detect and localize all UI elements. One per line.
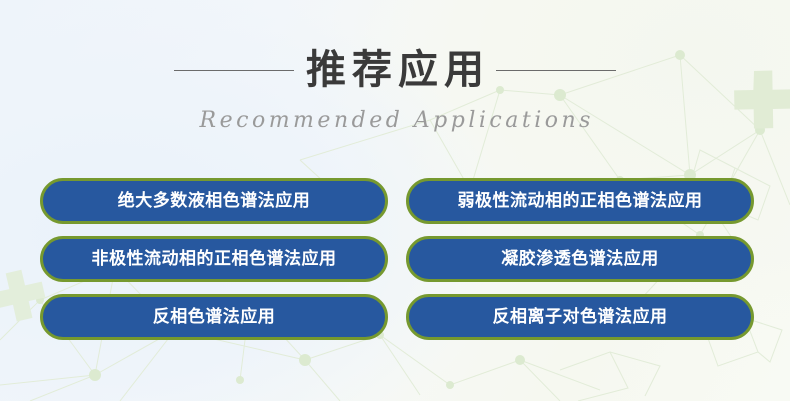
application-pill-label: 非极性流动相的正相色谱法应用 xyxy=(92,251,337,268)
application-pill-5[interactable]: 反相色谱法应用 xyxy=(40,294,388,340)
page-title: 推荐应用 xyxy=(290,50,500,90)
application-pill-label: 反相色谱法应用 xyxy=(153,309,276,326)
title-rule-left-icon xyxy=(174,70,294,71)
application-pill-6[interactable]: 反相离子对色谱法应用 xyxy=(406,294,754,340)
application-pill-3[interactable]: 非极性流动相的正相色谱法应用 xyxy=(40,236,388,282)
application-pill-label: 凝胶渗透色谱法应用 xyxy=(501,251,659,268)
page-subtitle: Recommended Applications xyxy=(0,108,790,133)
application-pill-1[interactable]: 绝大多数液相色谱法应用 xyxy=(40,178,388,224)
title-row: 推荐应用 xyxy=(0,42,790,98)
application-pill-2[interactable]: 弱极性流动相的正相色谱法应用 xyxy=(406,178,754,224)
applications-grid: 绝大多数液相色谱法应用 弱极性流动相的正相色谱法应用 非极性流动相的正相色谱法应… xyxy=(40,178,754,340)
recommended-applications-banner: 推荐应用 Recommended Applications 绝大多数液相色谱法应… xyxy=(0,0,790,419)
application-pill-label: 反相离子对色谱法应用 xyxy=(493,309,668,326)
application-pill-4[interactable]: 凝胶渗透色谱法应用 xyxy=(406,236,754,282)
bottom-white-strip xyxy=(0,401,790,419)
application-pill-label: 绝大多数液相色谱法应用 xyxy=(118,193,311,210)
application-pill-label: 弱极性流动相的正相色谱法应用 xyxy=(458,193,703,210)
title-rule-right-icon xyxy=(496,70,616,71)
banner-header: 推荐应用 Recommended Applications xyxy=(0,42,790,133)
